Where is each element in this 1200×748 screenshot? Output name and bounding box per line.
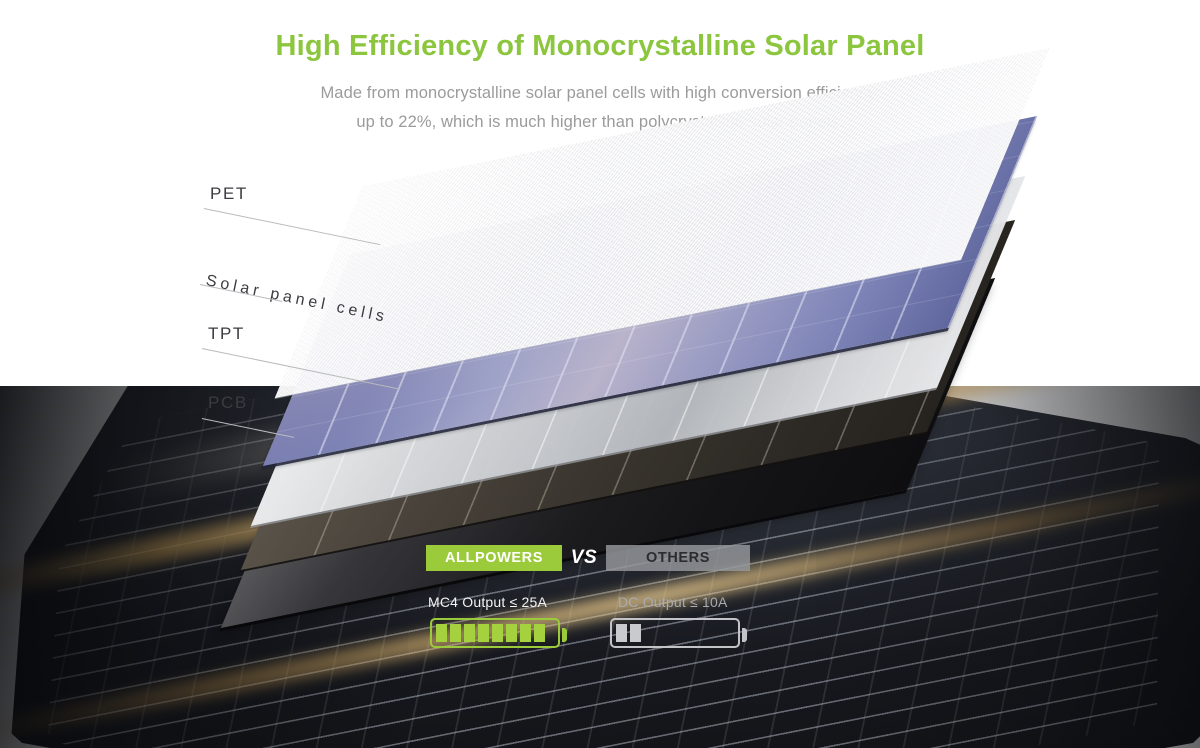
battery-terminal-others (742, 628, 747, 642)
battery-segment (478, 624, 489, 642)
battery-segment (506, 624, 517, 642)
callout-label-pcb: PCB (208, 393, 248, 413)
battery-icon-others (610, 618, 740, 648)
callout-label-tpt: TPT (208, 324, 245, 344)
battery-segments-others (616, 624, 641, 642)
battery-segment (534, 624, 545, 642)
battery-icon-allpowers (430, 618, 560, 648)
callout-label-pet: PET (210, 184, 248, 204)
caption-allpowers-output: MC4 Output ≤ 25A (428, 594, 547, 610)
caption-others-output: DC Output ≤ 10A (618, 594, 728, 610)
battery-segment (464, 624, 475, 642)
battery-segment (436, 624, 447, 642)
battery-segment (492, 624, 503, 642)
badge-others: OTHERS (606, 545, 750, 571)
battery-segment (520, 624, 531, 642)
infographic-canvas: High Efficiency of Monocrystalline Solar… (0, 0, 1200, 748)
battery-segments-allpowers (436, 624, 545, 642)
badge-vs: VS (566, 545, 602, 571)
badge-allpowers: ALLPOWERS (426, 545, 562, 571)
battery-segment (616, 624, 627, 642)
battery-segment (630, 624, 641, 642)
battery-terminal-allpowers (562, 628, 567, 642)
battery-segment (450, 624, 461, 642)
